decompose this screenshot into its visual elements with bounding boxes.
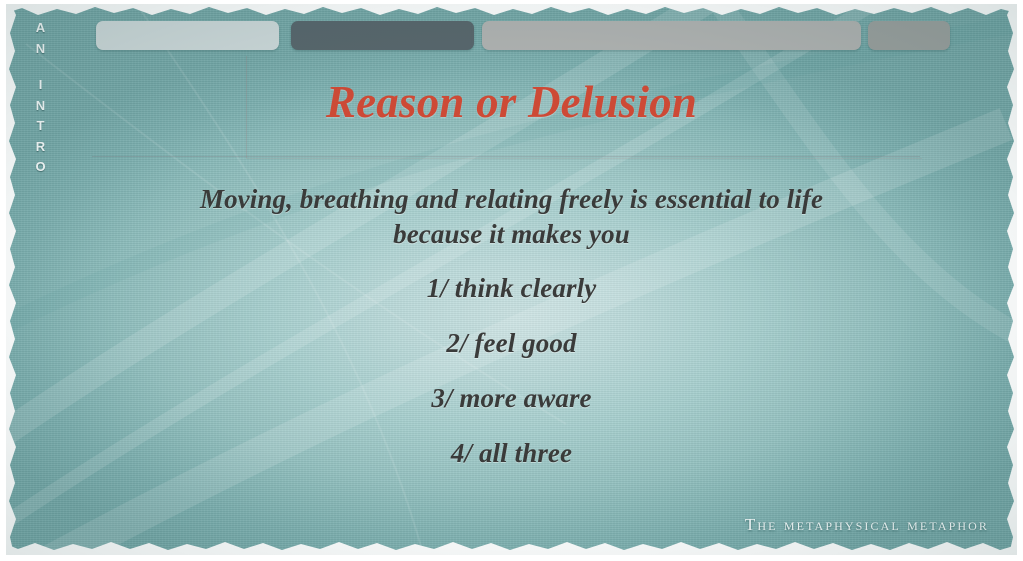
list-item: 4/ all three [6, 438, 1017, 469]
top-nav-bar [96, 21, 956, 50]
slide-title[interactable]: Reason or Delusion [326, 76, 697, 128]
slide-body[interactable]: Moving, breathing and relating freely is… [6, 182, 1017, 469]
body-lead-line-2: because it makes you [6, 217, 1017, 252]
list-item: 3/ more aware [6, 383, 1017, 414]
textbox-guide-horizontal [246, 158, 922, 159]
slide-root: AN A N I N T R O Reason or Delusion Movi… [0, 0, 1023, 561]
title-divider-line [92, 156, 920, 157]
vertical-label-char-a: A [36, 18, 46, 39]
top-nav-chip-3[interactable] [482, 21, 861, 50]
vertical-label-char-r: R [36, 137, 46, 158]
list-item: 2/ feel good [6, 328, 1017, 359]
title-area[interactable]: Reason or Delusion [6, 76, 1017, 128]
vertical-label-char-o: O [35, 157, 46, 178]
slide-footer: The metaphysical metaphor [745, 515, 989, 535]
body-lead-line-1: Moving, breathing and relating freely is… [6, 182, 1017, 217]
top-nav-chip-1[interactable] [96, 21, 279, 50]
list-item: 1/ think clearly [6, 273, 1017, 304]
slide-canvas[interactable]: AN A N I N T R O Reason or Delusion Movi… [6, 4, 1017, 555]
vertical-label-char-n: N [36, 39, 46, 60]
top-nav-chip-2[interactable] [291, 21, 474, 50]
top-nav-chip-4[interactable] [868, 21, 950, 50]
